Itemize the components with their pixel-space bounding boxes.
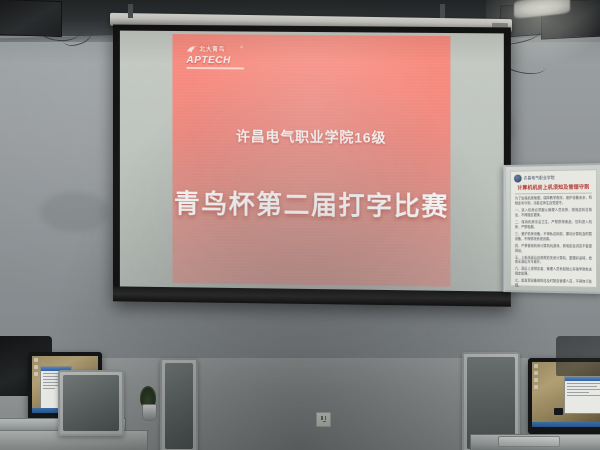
cubicle-partition-left <box>58 370 124 436</box>
notice-paragraph: 五、上机结束后应按规范关闭计算机，整理好桌椅，检查无误后方可离开。 <box>515 255 592 266</box>
notice-board-body: 为了加强机房管理，保障教学秩序，维护设备安全，特制定本守则，请各位师生自觉遵守。… <box>511 196 596 294</box>
classroom-photo-scene: 北大青鸟 ® APTECH 许昌电气职业学院16级 青鸟杯第二届打字比赛 许昌电… <box>0 0 600 450</box>
projector-screen-frame: 北大青鸟 ® APTECH 许昌电气职业学院16级 青鸟杯第二届打字比赛 <box>113 25 511 307</box>
logo-chinese-name: 北大青鸟 <box>199 44 224 53</box>
socket-slot <box>325 416 327 420</box>
notice-board-sheet: 许昌电气职业学院 计算机机房上机须知及管理守则 为了加强机房管理，保障教学秩序，… <box>510 169 597 288</box>
desktop-icon[interactable] <box>34 365 38 369</box>
desktop-icon[interactable] <box>534 364 538 368</box>
wall-notice-board: 许昌电气职业学院 计算机机房上机须知及管理守则 为了加强机房管理，保障教学秩序，… <box>503 163 600 294</box>
notice-paragraph: 二、保持机房清洁卫生，严禁携带食品、饮料进入机房，严禁吸烟。 <box>515 220 592 230</box>
desktop-icon[interactable] <box>534 378 538 382</box>
wall-smudge <box>40 192 110 232</box>
notice-paragraph: 六、违反上述规定者，管理人员有权制止并按学院有关规定处理。 <box>515 267 592 278</box>
desktop-icon[interactable] <box>34 358 38 362</box>
partition-glass-panel <box>63 375 119 431</box>
notice-board-divider <box>515 193 592 195</box>
desktop-icon[interactable] <box>534 371 538 375</box>
wall-power-socket[interactable] <box>316 412 331 427</box>
projected-slide: 北大青鸟 ® APTECH 许昌电气职业学院16级 青鸟杯第二届打字比赛 <box>172 34 450 287</box>
notice-paragraph: 三、爱护机房设备，不得私自拆卸、挪动计算机及附属设备，不得修改系统设置。 <box>515 232 592 242</box>
logo-underline <box>186 67 244 69</box>
chair-back-right <box>556 336 600 376</box>
aptech-logo: 北大青鸟 ® APTECH <box>184 44 248 72</box>
potted-plant-pot <box>142 404 157 421</box>
cubicle-partition-center <box>160 358 198 450</box>
notice-board-organization: 许昌电气职业学院 <box>524 175 555 181</box>
logo-trademark: ® <box>240 44 243 49</box>
window-content <box>567 383 600 398</box>
notice-paragraph: 七、如发现设备故障应及时报告管理人员，不得自行处理。 <box>515 279 592 290</box>
logo-english-name: APTECH <box>186 55 230 66</box>
desktop-icon[interactable] <box>534 385 538 389</box>
slide-subtitle: 许昌电气职业学院16级 <box>172 126 450 149</box>
notice-paragraph: 一、进入机房必须服从管理人员安排，按指定机位就坐，不得随意更换。 <box>515 208 592 218</box>
desktop-icon[interactable] <box>554 408 563 415</box>
keyboard-right[interactable] <box>498 436 560 447</box>
notice-paragraph: 为了加强机房管理，保障教学秩序，维护设备安全，特制定本守则，请各位师生自觉遵守。 <box>515 196 592 207</box>
notice-paragraph: 四、严禁使用机房计算机玩游戏、看电影及浏览不健康网站。 <box>515 243 592 253</box>
socket-slot <box>323 421 327 423</box>
slide-title: 青鸟杯第二届打字比赛 <box>172 183 450 223</box>
seal-icon <box>514 175 522 183</box>
desktop-icon[interactable] <box>34 372 38 376</box>
file-dialog-window-right[interactable] <box>564 376 600 414</box>
partition-glass-panel <box>165 363 193 449</box>
screen-bracket-right <box>440 4 445 18</box>
screen-bracket-left <box>128 4 133 18</box>
window-title-bar[interactable] <box>565 377 600 381</box>
socket-slot <box>321 416 323 420</box>
windows-taskbar-right[interactable] <box>532 422 600 427</box>
projector-screen-surface: 北大青鸟 ® APTECH 许昌电气职业学院16级 青鸟杯第二届打字比赛 <box>120 31 504 293</box>
